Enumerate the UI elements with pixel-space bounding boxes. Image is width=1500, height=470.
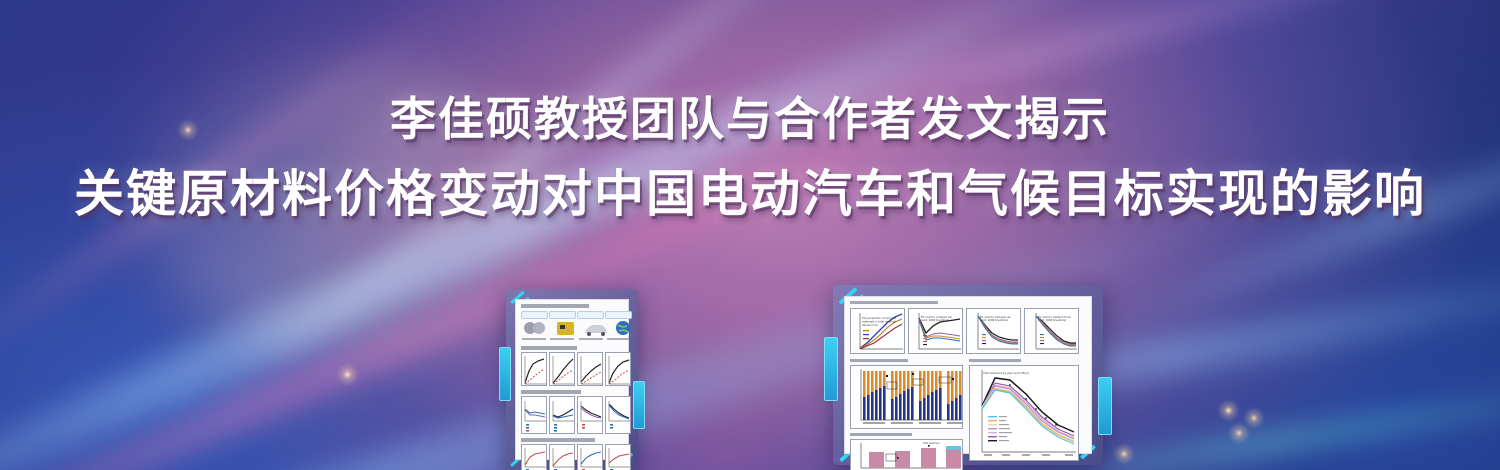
row-label-d — [850, 433, 912, 436]
svg-text:(unit: 1000 $/vehicle): (unit: 1000 $/vehicle) — [921, 318, 949, 322]
svg-text:The proportion of recycled: The proportion of recycled — [862, 316, 897, 320]
research-figure-right[interactable]: The proportion of recycled materials in … — [833, 285, 1103, 465]
stage-header-1 — [521, 311, 548, 319]
mini-chart-b1 — [521, 352, 547, 386]
mini-chart-d3 — [577, 444, 603, 470]
mini-chart-c3 — [577, 396, 603, 434]
mini-chart-d1 — [521, 444, 547, 470]
figure-right-sheet: The proportion of recycled materials in … — [844, 296, 1092, 454]
title-line-1: 李佳硕教授团队与合作者发文揭示 — [0, 92, 1500, 148]
banner-title: 李佳硕教授团队与合作者发文揭示 关键原材料价格变动对中国电动汽车和气候目标实现的… — [0, 92, 1500, 224]
ev-cost-mid-size-chart: EV cost for mid-size car (unit: 1000 $/v… — [966, 308, 1021, 354]
ev-cost-medium-truck-chart: EV cost for medium truck (unit: 1000 $/v… — [1024, 308, 1079, 354]
side-tab-right — [633, 381, 645, 429]
recycling-share-chart: The proportion of recycled materials in … — [850, 308, 905, 354]
svg-text:(unit: 1000 $/vehicle): (unit: 1000 $/vehicle) — [980, 318, 1008, 322]
stage-header-3 — [577, 311, 604, 319]
side-tab-right — [1098, 377, 1112, 435]
cumulative-co2-emissions-chart: CO2 premium — [850, 439, 963, 470]
row-label-a — [850, 301, 938, 304]
row-label-b — [850, 359, 908, 362]
mini-chart-d4 — [605, 444, 631, 470]
particle-dot-4 — [345, 372, 350, 377]
mini-chart-c1 — [521, 396, 547, 434]
particle-dot-3 — [1237, 431, 1241, 435]
particle-dot-1 — [1226, 408, 1231, 413]
row-label-a — [521, 304, 589, 308]
stage-header-4 — [605, 311, 632, 319]
svg-text:CO2 premium: CO2 premium — [923, 442, 940, 445]
svg-text:demand (%): demand (%) — [862, 323, 878, 327]
row-label-c — [521, 390, 581, 394]
particle-dot-6 — [1122, 452, 1126, 456]
row-label-d — [521, 438, 595, 442]
research-figure-left[interactable] — [506, 289, 638, 470]
mini-chart-c4 — [605, 396, 631, 434]
ev-cost-compact-car-chart: EV cost for compact car (unit: 1000 $/ve… — [908, 308, 963, 354]
stage-header-2 — [549, 311, 576, 319]
mini-chart-c2 — [549, 396, 575, 434]
row-label-c — [969, 359, 1021, 362]
title-line-2: 关键原材料价格变动对中国电动汽车和气候目标实现的影响 — [0, 164, 1500, 224]
svg-text:materials in total material: materials in total material — [862, 319, 896, 323]
mini-chart-b2 — [549, 352, 575, 386]
ev-icev-penetration-chart — [850, 365, 963, 429]
svg-text:CO2 emissions by year (unit: M: CO2 emissions by year (unit: Mt-yr) — [983, 371, 1029, 375]
particle-dot-2 — [1252, 416, 1256, 420]
side-tab-left — [824, 337, 838, 401]
co2-emissions-by-year-chart: CO2 emissions by year (unit: Mt-yr) — [969, 365, 1079, 461]
mini-chart-b3 — [577, 352, 603, 386]
mini-chart-d2 — [549, 444, 575, 470]
side-tab-left — [499, 347, 511, 401]
mini-chart-b4 — [605, 352, 631, 386]
banner-root: 李佳硕教授团队与合作者发文揭示 关键原材料价格变动对中国电动汽车和气候目标实现的… — [0, 0, 1500, 470]
row-label-b — [521, 346, 577, 350]
stage-icons-row — [521, 319, 633, 343]
svg-text:(unit: 1000 $/vehicle): (unit: 1000 $/vehicle) — [1038, 318, 1066, 322]
figure-left-sheet — [515, 299, 629, 460]
